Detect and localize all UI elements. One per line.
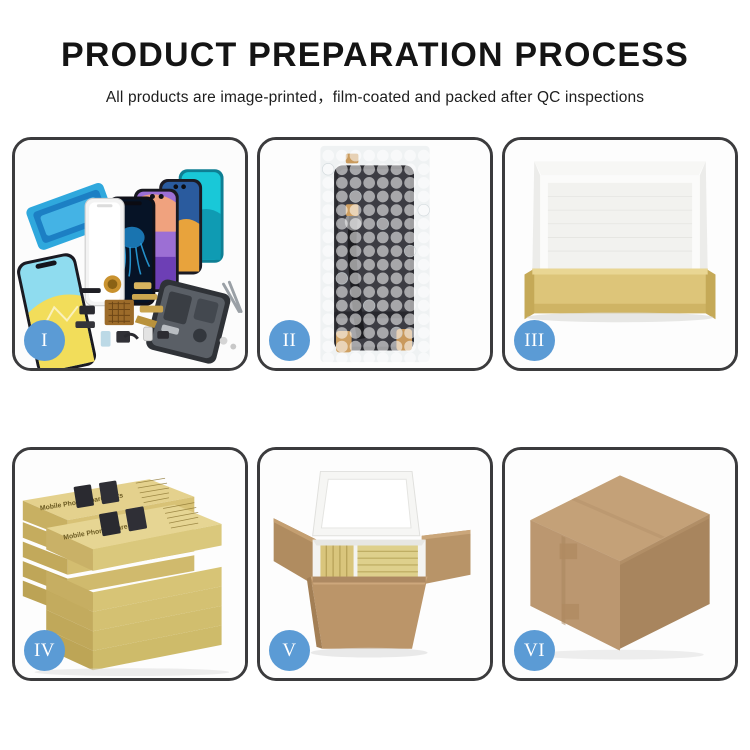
header: PRODUCT PREPARATION PROCESS All products… bbox=[0, 0, 750, 107]
process-step-panel-4: Mobile Phone Spare Parts bbox=[12, 447, 248, 681]
process-step-panel-1: I bbox=[12, 137, 248, 371]
step-badge-6: VI bbox=[514, 630, 555, 671]
process-step-grid: I bbox=[12, 137, 738, 681]
step-badge-2: II bbox=[269, 320, 310, 361]
page-title: PRODUCT PREPARATION PROCESS bbox=[0, 38, 750, 74]
step-badge-1: I bbox=[24, 320, 65, 361]
step-badge-3: III bbox=[514, 320, 555, 361]
process-step-panel-6: VI bbox=[502, 447, 738, 681]
process-step-panel-2: II bbox=[257, 137, 493, 371]
process-step-panel-5: V bbox=[257, 447, 493, 681]
page-subtitle: All products are image-printed，film-coat… bbox=[0, 85, 750, 107]
product-preparation-infographic: PRODUCT PREPARATION PROCESS All products… bbox=[0, 0, 750, 750]
step-badge-5: V bbox=[269, 630, 310, 671]
process-step-panel-3: III bbox=[502, 137, 738, 371]
step-badge-4: IV bbox=[24, 630, 65, 671]
